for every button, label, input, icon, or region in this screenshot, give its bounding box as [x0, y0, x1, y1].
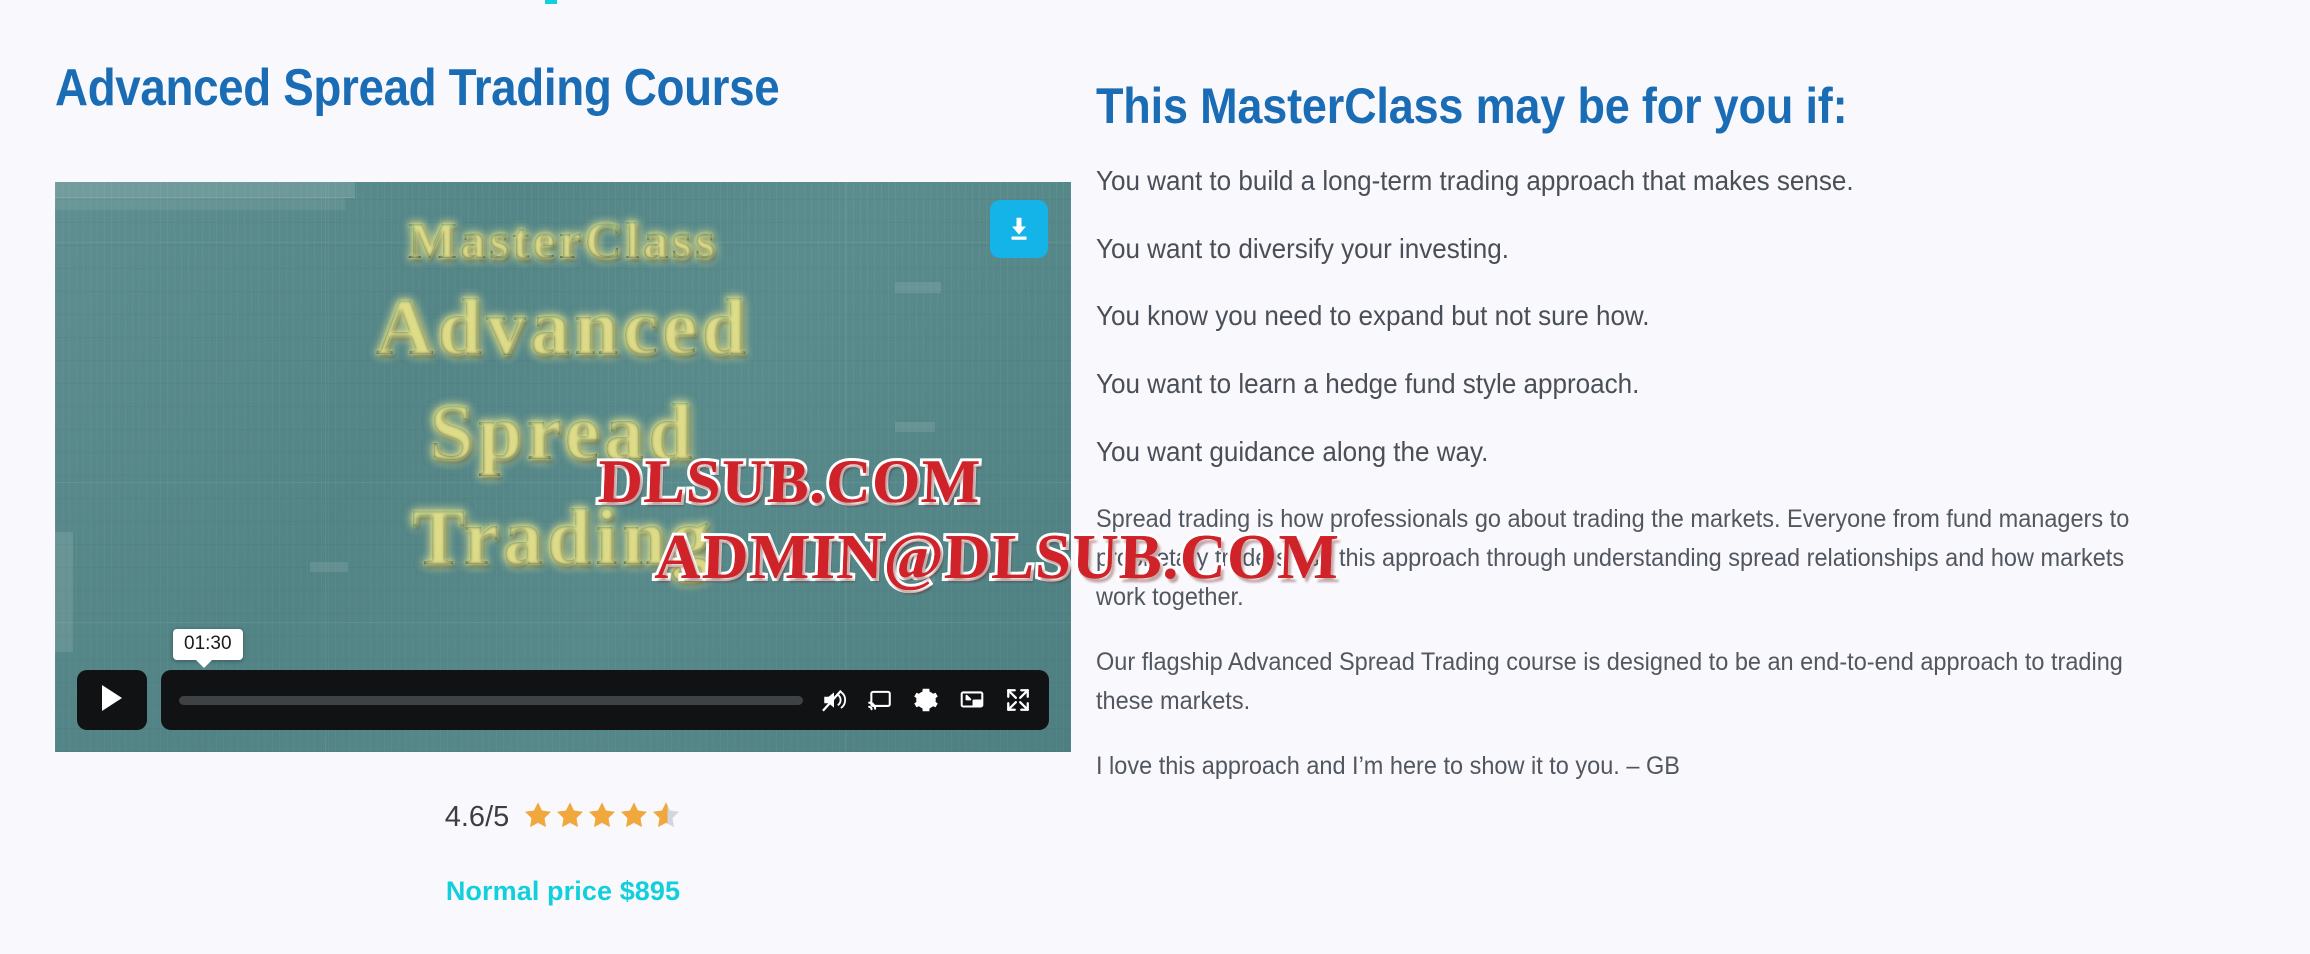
rating-row: 4.6/5	[55, 800, 1071, 835]
left-column: Advanced Spread Trading Course	[55, 60, 1075, 117]
price-row: Normal price $895	[55, 876, 1071, 907]
video-time-tooltip: 01:30	[173, 629, 243, 660]
download-button[interactable]	[990, 200, 1048, 258]
right-column: This MasterClass may be for you if: You …	[1096, 78, 2246, 812]
page-root: Advanced Spread Trading Course MasterCla…	[0, 0, 2310, 954]
video-control-icons	[817, 683, 1035, 717]
star-icon	[555, 800, 585, 835]
cast-icon[interactable]	[863, 683, 897, 717]
chart-side-block	[55, 532, 73, 652]
bullet-item: You want to learn a hedge fund style app…	[1096, 365, 2166, 404]
video-control-bar[interactable]	[161, 670, 1049, 730]
settings-gear-icon[interactable]	[909, 683, 943, 717]
star-icon	[523, 800, 553, 835]
chart-label-block	[895, 422, 935, 432]
body-paragraph-signature: I love this approach and I’m here to sho…	[1096, 747, 2135, 786]
chart-label-block	[895, 572, 935, 582]
chart-toolbar-strip	[55, 182, 355, 198]
body-paragraph: Our flagship Advanced Spread Trading cou…	[1096, 643, 2135, 721]
bullet-item: You want guidance along the way.	[1096, 433, 2166, 472]
chart-gridline	[55, 242, 1071, 243]
star-half-icon	[651, 800, 681, 835]
chart-toolbar-strip-secondary	[55, 198, 345, 210]
mute-icon[interactable]	[817, 683, 851, 717]
video-progress-bar[interactable]	[179, 696, 803, 705]
star-icon	[619, 800, 649, 835]
star-icon	[587, 800, 617, 835]
bullet-item: You want to diversify your investing.	[1096, 230, 2166, 269]
chart-gridline	[845, 182, 846, 752]
video-player[interactable]: MasterClass Advanced Spread Trading 01	[55, 182, 1071, 752]
masterclass-heading: This MasterClass may be for you if:	[1096, 78, 2131, 134]
bullet-item: You want to build a long-term trading ap…	[1096, 162, 2166, 201]
rating-value: 4.6/5	[445, 801, 510, 834]
chart-label-block	[895, 282, 941, 293]
cut-off-cyan-text-sliver	[545, 0, 557, 4]
chart-gridline	[55, 482, 1071, 483]
chart-gridline	[55, 622, 1071, 623]
download-icon	[1004, 214, 1034, 244]
normal-price-label: Normal price $895	[446, 876, 680, 906]
chart-label-block	[310, 562, 348, 572]
chart-gridline	[325, 182, 326, 752]
star-rating	[523, 800, 681, 835]
picture-in-picture-icon[interactable]	[955, 683, 989, 717]
fullscreen-icon[interactable]	[1001, 683, 1035, 717]
bullet-item: You know you need to expand but not sure…	[1096, 297, 2166, 336]
body-paragraph: Spread trading is how professionals go a…	[1096, 500, 2135, 617]
play-button[interactable]	[77, 670, 147, 730]
play-icon	[99, 683, 125, 718]
page-title: Advanced Spread Trading Course	[55, 60, 953, 117]
